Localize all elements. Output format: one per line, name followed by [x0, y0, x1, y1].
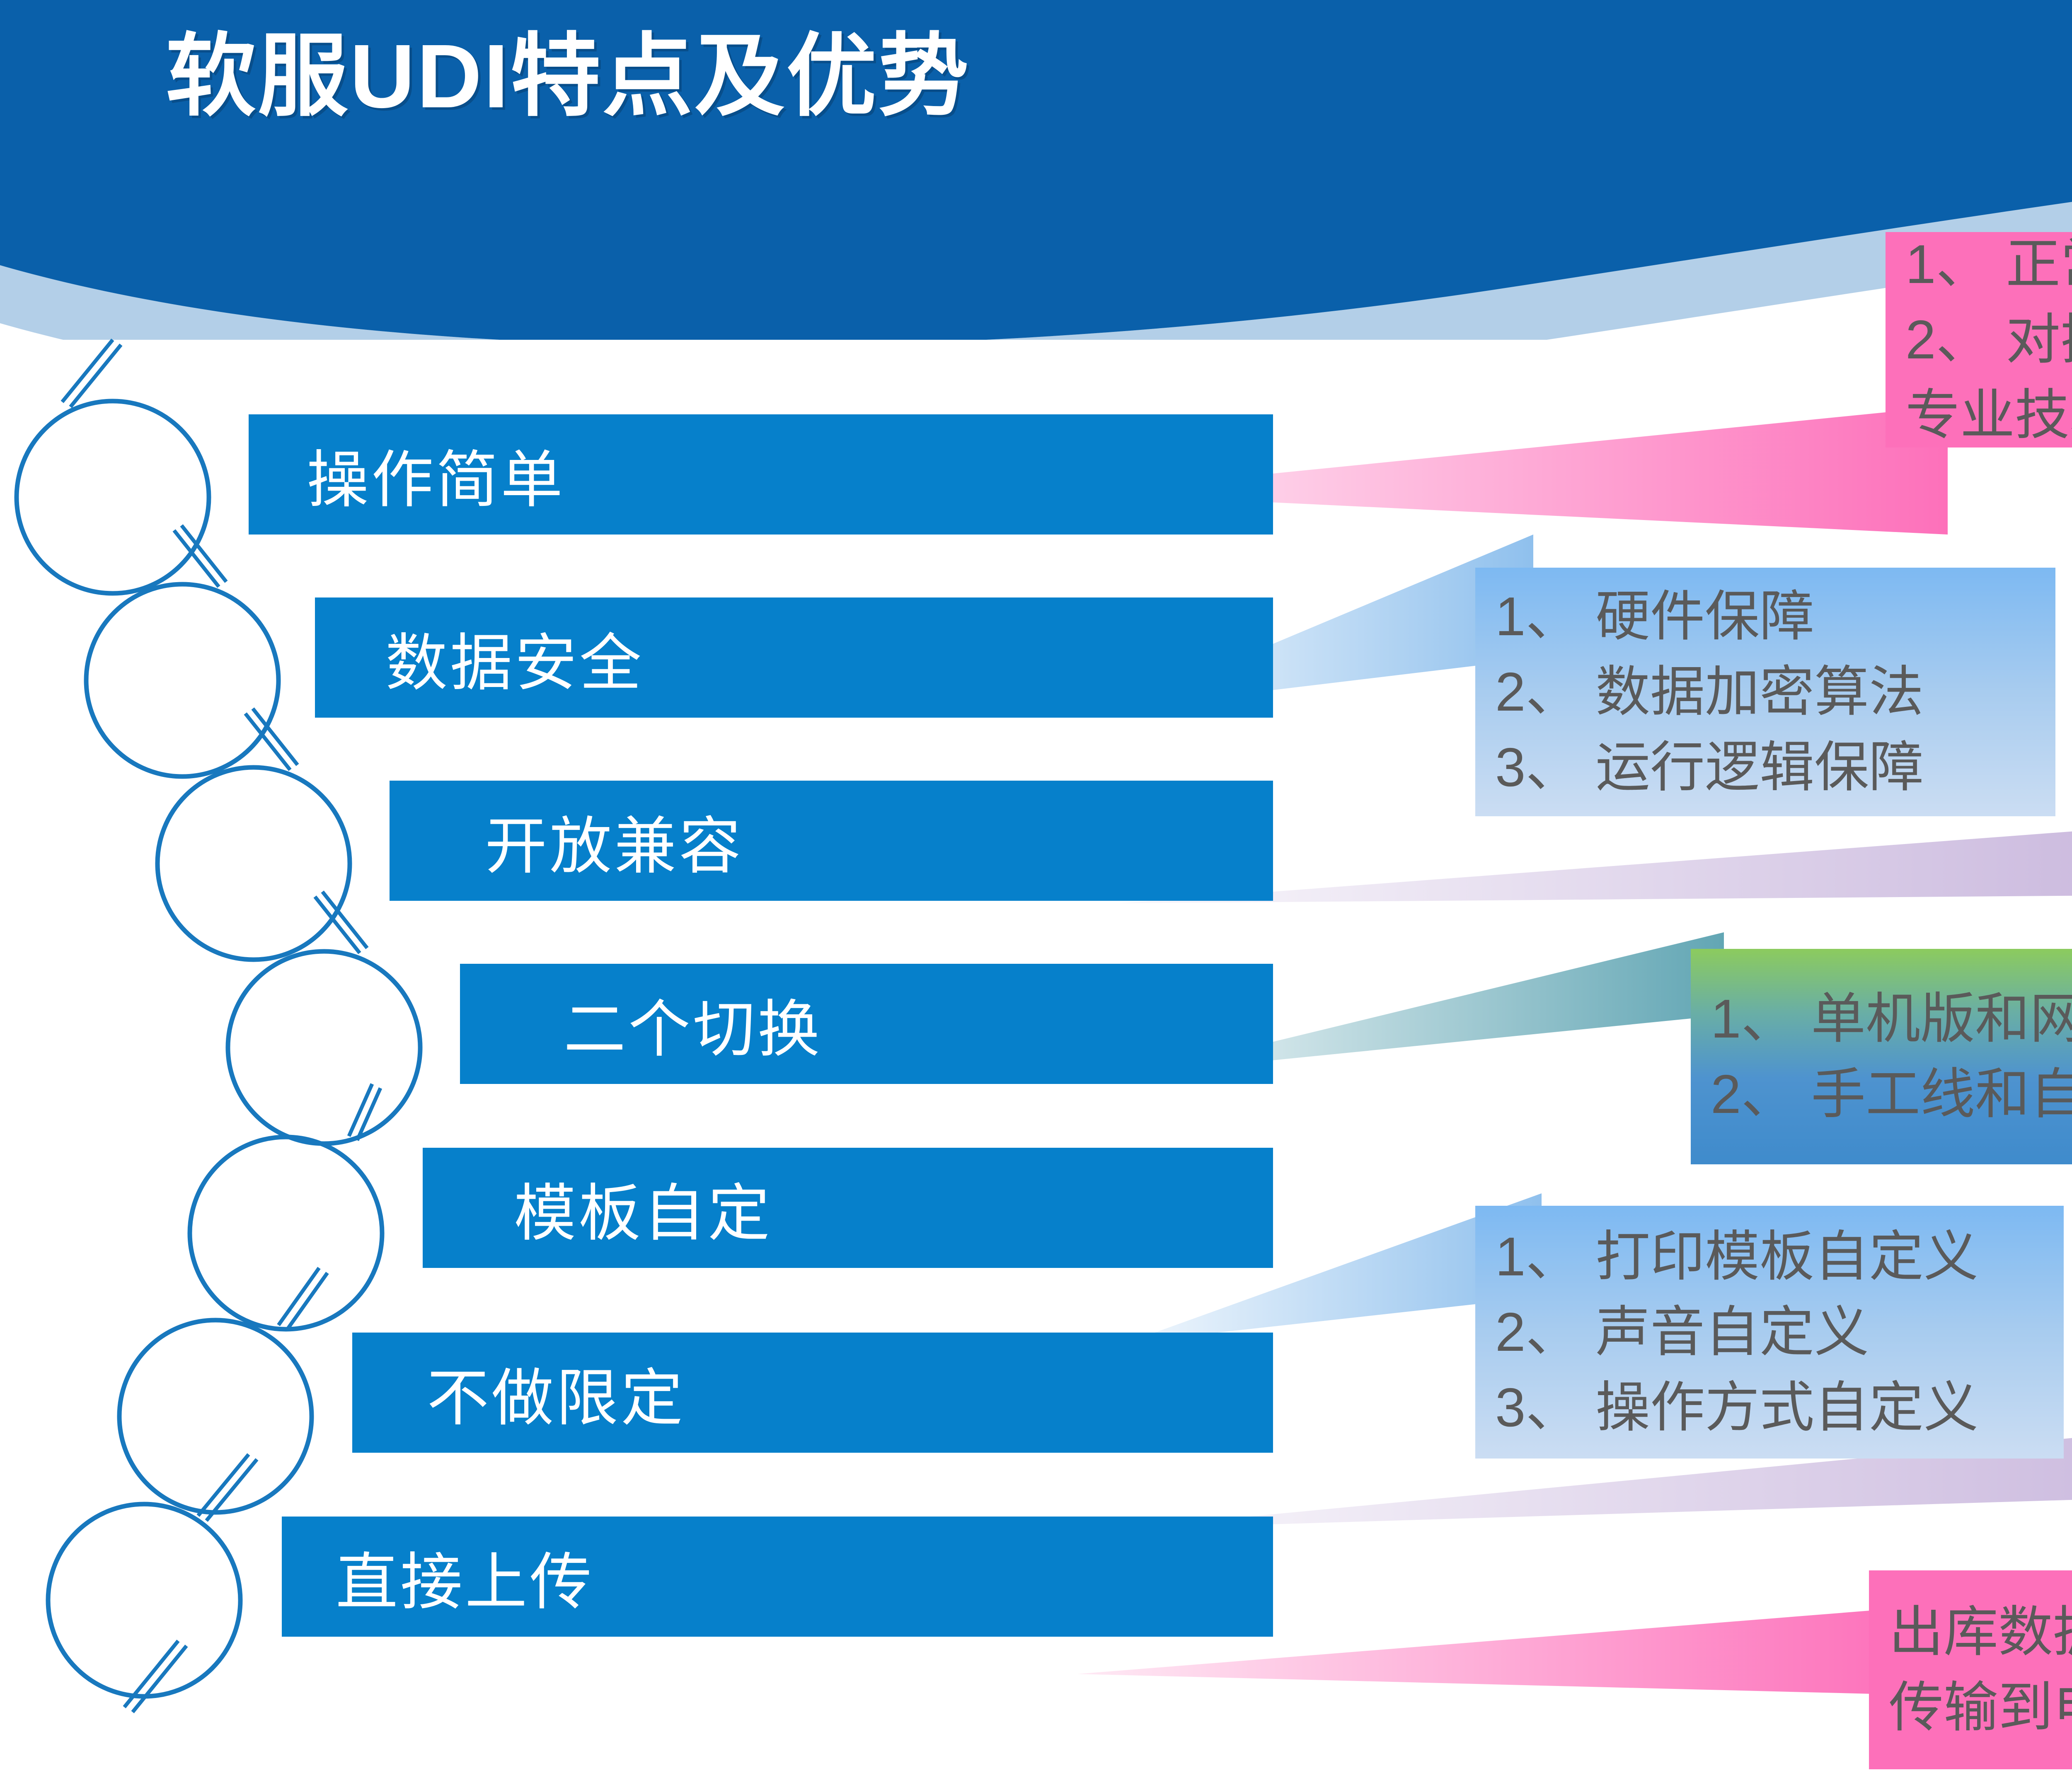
feature-bar-7[interactable]: 直接上传: [282, 1517, 1273, 1637]
feature-bar-1[interactable]: 操作简单: [249, 414, 1273, 535]
feature-label-2: 数据安全: [385, 613, 644, 703]
callout-direct-upload: 出库数据通过PDA直接 传输到电脑端: [1869, 1570, 2072, 1769]
feature-label-4: 二个切换: [564, 979, 822, 1069]
feature-bar-5[interactable]: 模板自定: [423, 1148, 1273, 1268]
feature-label-6: 不做限定: [427, 1348, 685, 1438]
callout-line: 1、 硬件保障: [1495, 579, 2039, 654]
feature-label-5: 模板自定: [514, 1163, 772, 1253]
callout-data-security: 1、 硬件保障 2、 数据加密算法 3、 运行逻辑保障: [1475, 568, 2055, 816]
feature-bar-6[interactable]: 不做限定: [352, 1333, 1273, 1453]
page-title: 软服UDI特点及优势: [166, 25, 970, 129]
callout-line: 2、 数据加密算法: [1495, 654, 2039, 730]
header-wave-shape: [0, 0, 2072, 340]
slide-canvas: 软服UDI特点及优势 软服科技: [0, 0, 2072, 1790]
callout-template-custom: 1、 打印模板自定义 2、 声音自定义 3、 操作方式自定义: [1475, 1206, 2064, 1459]
feature-label-7: 直接上传: [336, 1532, 594, 1622]
callout-line: 3、 操作方式自定义: [1495, 1370, 2047, 1445]
callout-line: 出库数据通过PDA直接: [1889, 1594, 2072, 1670]
callout-line: 专业技术: [1905, 377, 2072, 453]
feature-bar-4[interactable]: 二个切换: [460, 964, 1273, 1084]
callout-line: 2、 手工线和自动线的切换: [1711, 1057, 2072, 1132]
feature-bar-3[interactable]: 开放兼容: [390, 781, 1273, 901]
callout-line: 1、 单机版和网络版的切换: [1711, 981, 2072, 1057]
feature-label-3: 开放兼容: [485, 796, 743, 886]
feature-label-1: 操作简单: [307, 430, 565, 520]
callout-line: 3、 运行逻辑保障: [1495, 730, 2039, 805]
callout-line: 2、 对操作人员不需要: [1905, 302, 2072, 377]
header-banner: 软服UDI特点及优势: [0, 0, 2072, 340]
callout-line: 传输到电脑端: [1889, 1670, 2072, 1745]
feature-bar-2[interactable]: 数据安全: [315, 597, 1273, 718]
callout-two-switch: 1、 单机版和网络版的切换 2、 手工线和自动线的切换: [1691, 949, 2072, 1164]
callout-line: 1、 正常培训1个小时: [1905, 227, 2072, 302]
callout-line: 2、 声音自定义: [1495, 1294, 2047, 1370]
callout-operation-simple: 1、 正常培训1个小时 2、 对操作人员不需要 专业技术: [1886, 232, 2072, 447]
callout-line: 1、 打印模板自定义: [1495, 1219, 2047, 1294]
